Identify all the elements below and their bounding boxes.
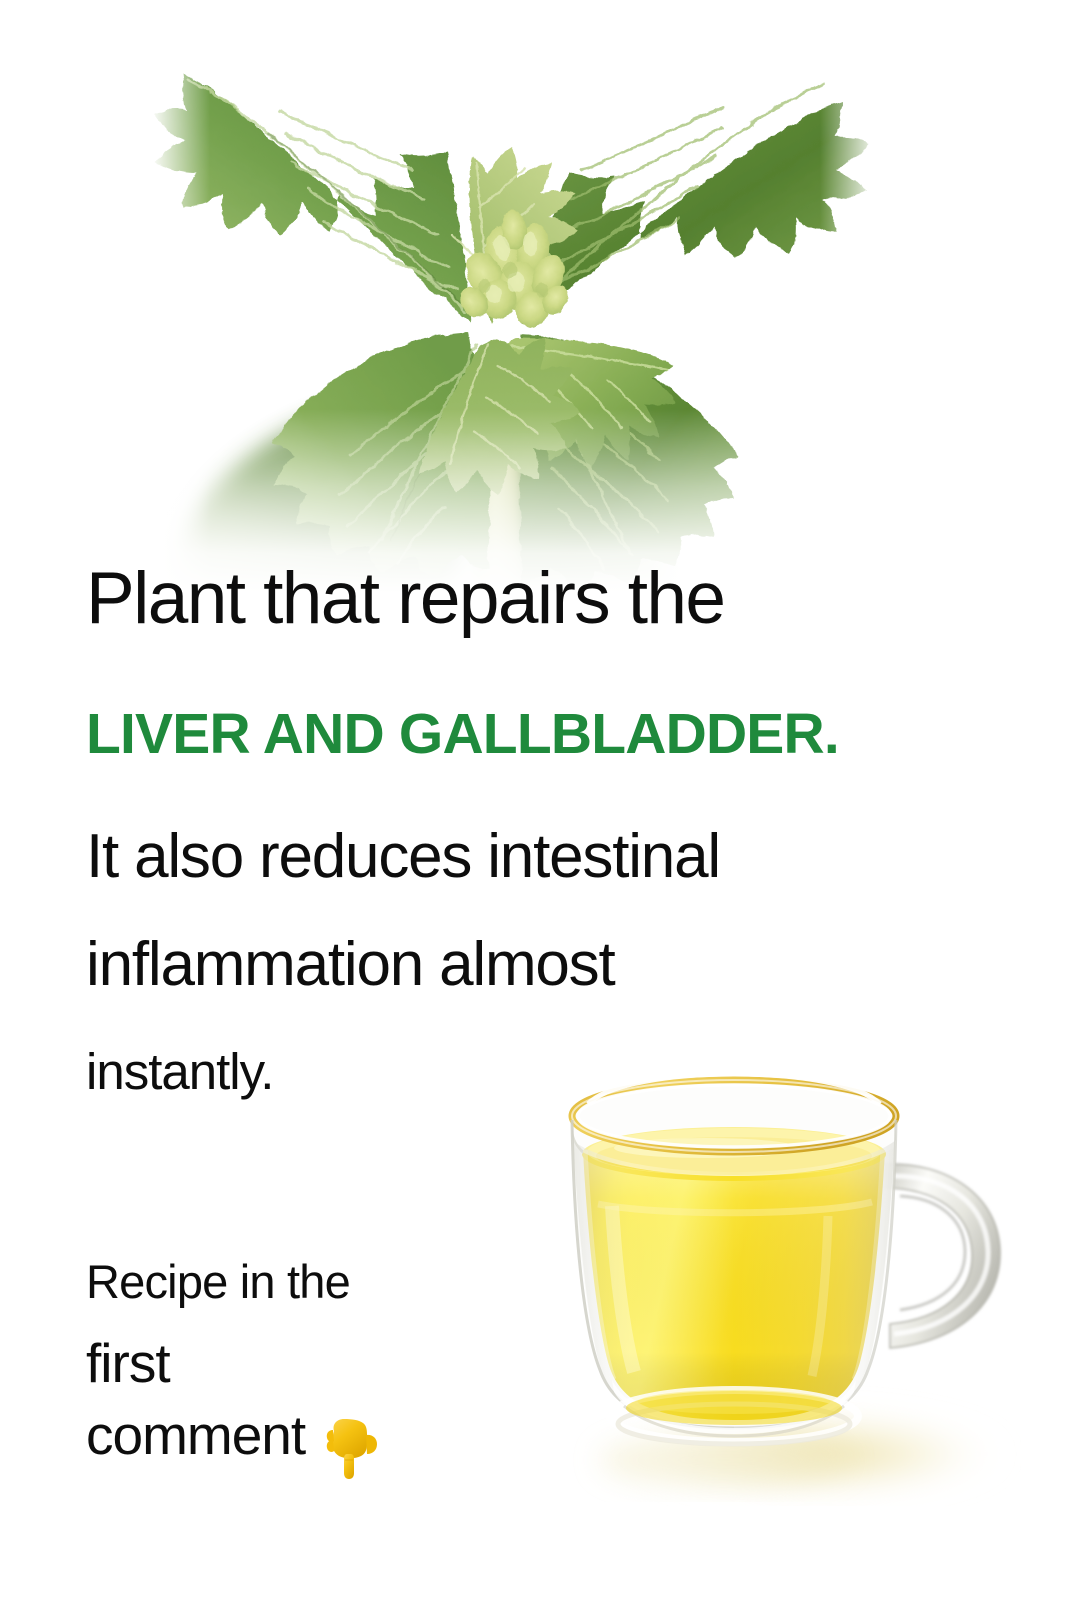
body-line-2: inflammation almost (86, 934, 615, 996)
cta-big-line-2-label: comment (86, 1408, 305, 1463)
poster-canvas: Plant that repairs the LIVER AND GALLBLA… (0, 0, 1067, 1600)
cta-big-line-1: first (86, 1336, 170, 1391)
text-layer: Plant that repairs the LIVER AND GALLBLA… (0, 0, 1067, 1600)
body-line-1: It also reduces intestinal (86, 826, 720, 888)
cta-big-line-2-row: comment (86, 1408, 385, 1478)
cta-small-line: Recipe in the (86, 1258, 350, 1305)
headline-text: Plant that repairs the (86, 562, 724, 635)
backhand-index-pointing-down-icon (319, 1410, 385, 1480)
body-line-3: instantly. (86, 1046, 273, 1097)
subheadline-green-text: LIVER AND GALLBLADDER. (86, 706, 839, 763)
